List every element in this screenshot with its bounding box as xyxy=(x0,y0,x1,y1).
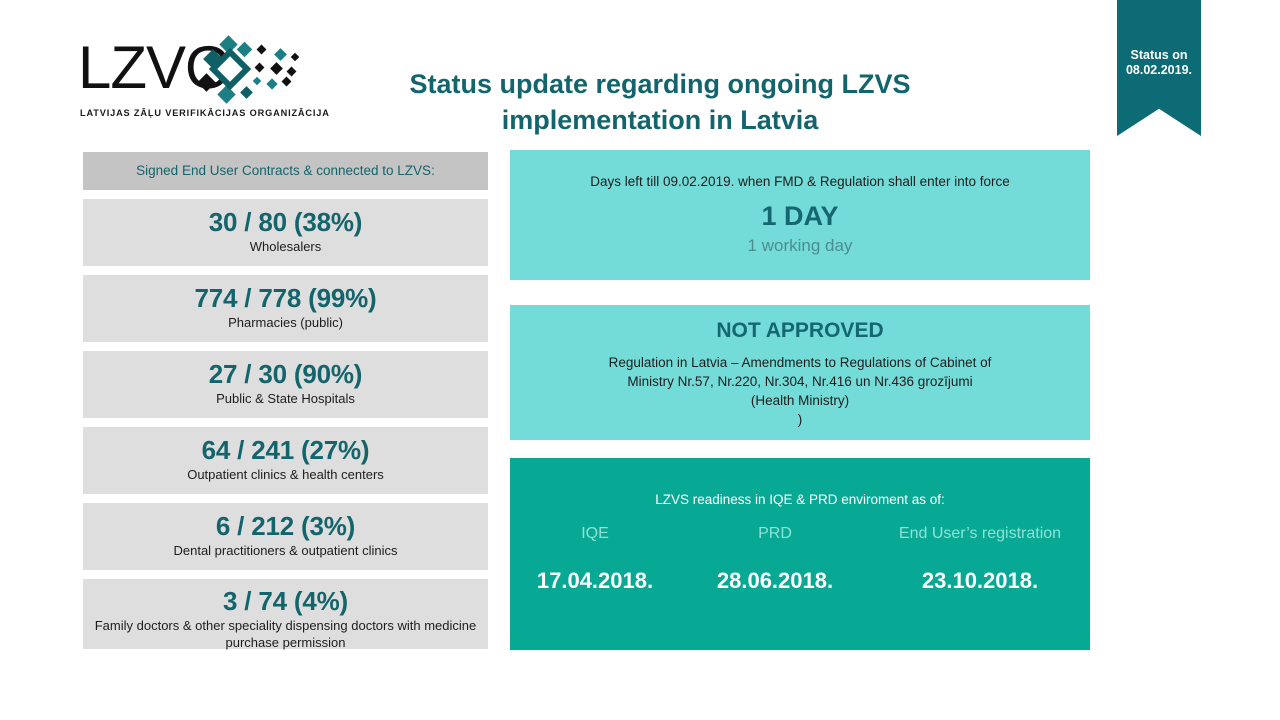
stat-label: Family doctors & other speciality dispen… xyxy=(83,617,488,651)
contracts-column: Signed End User Contracts & connected to… xyxy=(83,152,488,649)
countdown-subtext: 1 working day xyxy=(510,235,1090,257)
regulation-line-2: Ministry Nr.57, Nr.220, Nr.304, Nr.416 u… xyxy=(510,372,1090,391)
stat-card: 774 / 778 (99%) Pharmacies (public) xyxy=(83,275,488,342)
readiness-columns: IQE 17.04.2018. PRD 28.06.2018. End User… xyxy=(510,523,1090,595)
ribbon-line-2: 08.02.2019. xyxy=(1117,63,1201,78)
countdown-heading: Days left till 09.02.2019. when FMD & Re… xyxy=(510,173,1090,191)
regulation-line-3: (Health Ministry) xyxy=(510,391,1090,410)
stat-value: 64 / 241 (27%) xyxy=(83,434,488,466)
ribbon-line-1: Status on xyxy=(1117,48,1201,63)
stat-value: 3 / 74 (4%) xyxy=(83,585,488,617)
readiness-date: 28.06.2018. xyxy=(680,567,870,595)
readiness-date: 23.10.2018. xyxy=(870,567,1090,595)
logo-tagline: LATVIJAS ZĀĻU VERIFIKĀCIJAS ORGANIZĀCIJA xyxy=(80,108,330,118)
regulation-line-4: ) xyxy=(510,410,1090,429)
countdown-panel: Days left till 09.02.2019. when FMD & Re… xyxy=(510,150,1090,280)
stat-card: 64 / 241 (27%) Outpatient clinics & heal… xyxy=(83,427,488,494)
stat-card: 30 / 80 (38%) Wholesalers xyxy=(83,199,488,266)
regulation-status-badge: NOT APPROVED xyxy=(510,317,1090,345)
readiness-column-end-user-registration: End User’s registration 23.10.2018. xyxy=(870,523,1090,595)
stat-label: Public & State Hospitals xyxy=(83,390,488,407)
stat-card: 27 / 30 (90%) Public & State Hospitals xyxy=(83,351,488,418)
stat-label: Pharmacies (public) xyxy=(83,314,488,331)
regulation-line-1: Regulation in Latvia – Amendments to Reg… xyxy=(510,353,1090,372)
readiness-date: 17.04.2018. xyxy=(510,567,680,595)
lzvo-logo: LZVO LATVIJAS ZĀĻU VERIFIKĀCIJAS ORGANIZ… xyxy=(78,38,313,123)
stat-label: Dental practitioners & outpatient clinic… xyxy=(83,542,488,559)
status-date-ribbon: Status on 08.02.2019. xyxy=(1117,0,1201,136)
regulation-description: Regulation in Latvia – Amendments to Reg… xyxy=(510,353,1090,429)
stat-value: 27 / 30 (90%) xyxy=(83,358,488,390)
stat-card: 3 / 74 (4%) Family doctors & other speci… xyxy=(83,579,488,649)
readiness-heading: LZVS readiness in IQE & PRD enviroment a… xyxy=(510,491,1090,509)
contracts-header: Signed End User Contracts & connected to… xyxy=(83,152,488,190)
stat-value: 30 / 80 (38%) xyxy=(83,206,488,238)
readiness-label: PRD xyxy=(680,523,870,565)
readiness-column-iqe: IQE 17.04.2018. xyxy=(510,523,680,595)
readiness-label: IQE xyxy=(510,523,680,565)
stat-label: Outpatient clinics & health centers xyxy=(83,466,488,483)
page-title: Status update regarding ongoing LZVS imp… xyxy=(360,66,960,138)
stat-value: 6 / 212 (3%) xyxy=(83,510,488,542)
stat-card: 6 / 212 (3%) Dental practitioners & outp… xyxy=(83,503,488,570)
countdown-value: 1 DAY xyxy=(510,200,1090,232)
readiness-panel: LZVS readiness in IQE & PRD enviroment a… xyxy=(510,458,1090,650)
stat-value: 774 / 778 (99%) xyxy=(83,282,488,314)
stat-label: Wholesalers xyxy=(83,238,488,255)
readiness-label: End User’s registration xyxy=(870,523,1090,565)
regulation-panel: NOT APPROVED Regulation in Latvia – Amen… xyxy=(510,305,1090,440)
logo-diamond-pattern-icon xyxy=(198,36,318,108)
readiness-column-prd: PRD 28.06.2018. xyxy=(680,523,870,595)
